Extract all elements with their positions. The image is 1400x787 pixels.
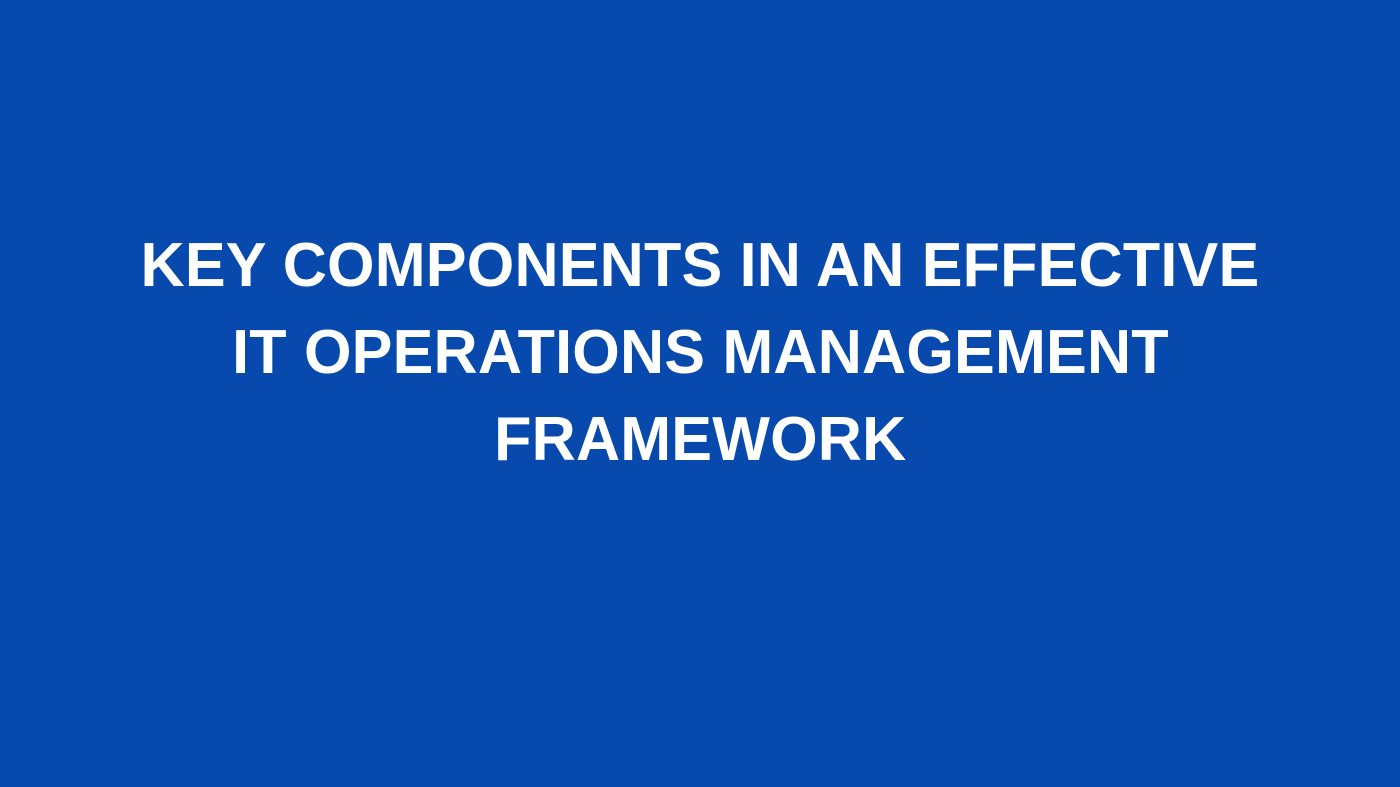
title-line-2: IT OPERATIONS MANAGEMENT (232, 309, 1169, 396)
page-title: KEY COMPONENTS IN AN EFFECTIVE IT OPERAT… (0, 222, 1400, 483)
title-slide: KEY COMPONENTS IN AN EFFECTIVE IT OPERAT… (0, 0, 1400, 787)
title-line-3: FRAMEWORK (494, 396, 906, 483)
title-line-1: KEY COMPONENTS IN AN EFFECTIVE (141, 222, 1260, 309)
